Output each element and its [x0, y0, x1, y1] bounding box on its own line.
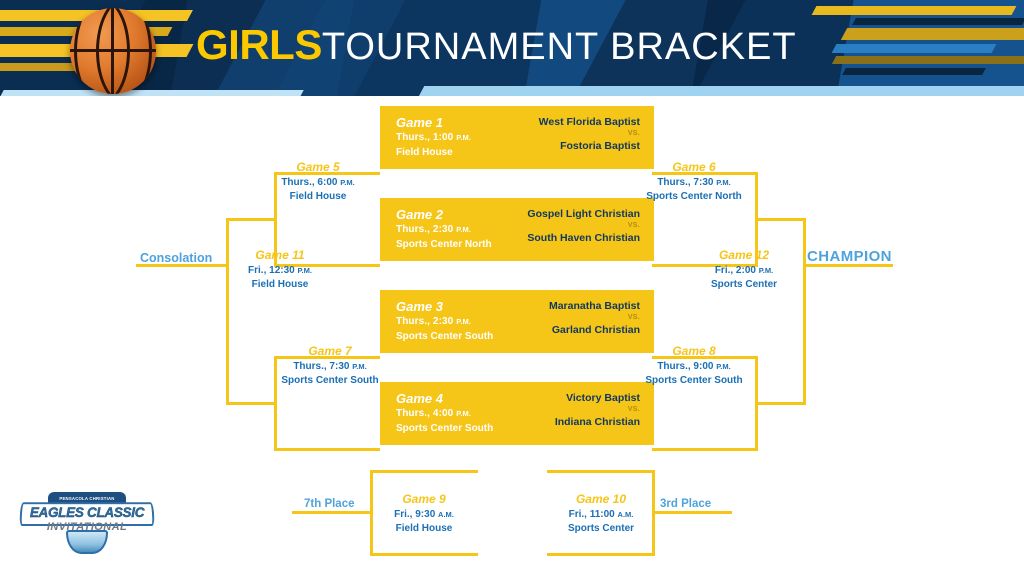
team-name-away: Indiana Christian — [555, 415, 640, 429]
game-box-game-1[interactable]: Game 1 Thurs., 1:00 P.M. Field House Wes… — [380, 106, 654, 169]
game-label-game-8[interactable]: Game 8 Thurs., 9:00 P.M. Sports Center S… — [634, 344, 754, 388]
game-time: Fri., 12:30 P.M. — [222, 264, 338, 278]
header-accent-stripe — [832, 56, 1024, 64]
team-name-away: Fostoria Baptist — [539, 139, 640, 153]
game-time-text: Thurs., 1:00 — [396, 132, 456, 143]
game-time-ampm: P.M. — [456, 133, 471, 142]
game-time-text: Fri., 9:30 — [394, 509, 438, 520]
game-matchup: Maranatha Baptist VS. Garland Christian — [549, 299, 640, 337]
game-venue: Sports Center — [686, 278, 802, 292]
game-label-game-7[interactable]: Game 7 Thurs., 7:30 P.M. Sports Center S… — [270, 344, 390, 388]
game-time: Thurs., 9:00 P.M. — [634, 360, 754, 374]
game-time-ampm: P.M. — [456, 409, 471, 418]
versus-label: VS. — [527, 221, 640, 230]
header-accent-stripe — [841, 28, 1024, 40]
game-matchup: Gospel Light Christian VS. South Haven C… — [527, 207, 640, 245]
game-venue: Field House — [370, 522, 478, 536]
game-info: Game 2 Thurs., 2:30 P.M. Sports Center N… — [396, 207, 492, 252]
game-time: Thurs., 7:30 P.M. — [634, 176, 754, 190]
game-label-game-5[interactable]: Game 5 Thurs., 6:00 P.M. Field House — [258, 160, 378, 204]
game-label-game-12[interactable]: Game 12 Fri., 2:00 P.M. Sports Center — [686, 248, 802, 292]
game-box-game-2[interactable]: Game 2 Thurs., 2:30 P.M. Sports Center N… — [380, 198, 654, 261]
game-label-game-9[interactable]: Game 9 Fri., 9:30 A.M. Field House — [370, 492, 478, 536]
page-title-highlight: GIRLS — [196, 21, 322, 68]
game-title: Game 8 — [634, 344, 754, 360]
game-time-text: Thurs., 2:30 — [396, 316, 456, 327]
bracket-board: Game 1 Thurs., 1:00 P.M. Field House Wes… — [0, 96, 1024, 576]
game-time: Thurs., 2:30 P.M. — [396, 223, 492, 238]
game-time-ampm: P.M. — [352, 362, 366, 371]
header-accent-stripe — [842, 68, 986, 75]
game-venue: Field House — [258, 190, 378, 204]
connector-line — [652, 511, 732, 514]
game-time: Thurs., 2:30 P.M. — [396, 315, 493, 330]
game-title: Game 12 — [686, 248, 802, 264]
game-time-ampm: A.M. — [618, 510, 634, 519]
game-box-game-4[interactable]: Game 4 Thurs., 4:00 P.M. Sports Center S… — [380, 382, 654, 445]
game-title: Game 5 — [258, 160, 378, 176]
game-venue: Sports Center South — [396, 422, 493, 437]
game-time: Fri., 11:00 A.M. — [547, 508, 655, 522]
team-name-home: Victory Baptist — [555, 391, 640, 405]
team-name-home: Maranatha Baptist — [549, 299, 640, 313]
logo-shield-icon — [66, 530, 108, 554]
game-info: Game 1 Thurs., 1:00 P.M. Field House — [396, 115, 471, 160]
game-time-text: Thurs., 7:30 — [657, 177, 716, 188]
game-venue: Sports Center — [547, 522, 655, 536]
team-name-away: South Haven Christian — [527, 231, 640, 245]
game-matchup: Victory Baptist VS. Indiana Christian — [555, 391, 640, 429]
champion-label: CHAMPION — [807, 248, 892, 265]
logo-main-text: EAGLES CLASSIC — [18, 505, 156, 520]
game-title: Game 2 — [396, 207, 492, 223]
seventh-place-label: 7th Place — [304, 498, 355, 510]
connector-line — [226, 218, 277, 221]
game-info: Game 3 Thurs., 2:30 P.M. Sports Center S… — [396, 299, 493, 344]
game-label-game-10[interactable]: Game 10 Fri., 11:00 A.M. Sports Center — [547, 492, 655, 536]
game-title: Game 9 — [370, 492, 478, 508]
connector-line — [755, 402, 806, 405]
versus-label: VS. — [555, 405, 640, 414]
game-time-text: Fri., 11:00 — [569, 509, 618, 520]
game-title: Game 6 — [634, 160, 754, 176]
game-time: Thurs., 1:00 P.M. — [396, 131, 471, 146]
page-title-rest: TOURNAMENT BRACKET — [322, 26, 797, 68]
game-matchup: West Florida Baptist VS. Fostoria Baptis… — [539, 115, 640, 153]
game-time-ampm: P.M. — [298, 266, 312, 275]
game-title: Game 10 — [547, 492, 655, 508]
game-venue: Sports Center South — [634, 374, 754, 388]
game-title: Game 4 — [396, 391, 493, 407]
team-name-home: West Florida Baptist — [539, 115, 640, 129]
team-name-away: Garland Christian — [549, 323, 640, 337]
game-venue: Field House — [396, 146, 471, 161]
game-time-text: Thurs., 7:30 — [293, 361, 352, 372]
game-time: Thurs., 6:00 P.M. — [258, 176, 378, 190]
versus-label: VS. — [539, 129, 640, 138]
connector-line — [803, 218, 806, 405]
game-time-ampm: A.M. — [438, 510, 454, 519]
game-label-game-6[interactable]: Game 6 Thurs., 7:30 P.M. Sports Center N… — [634, 160, 754, 204]
game-time-ampm: P.M. — [340, 178, 354, 187]
header-accent-stripe — [812, 6, 1017, 15]
eagles-classic-logo: PENSACOLA CHRISTIAN COLLEGE EAGLES CLASS… — [18, 492, 156, 554]
game-venue: Sports Center South — [396, 330, 493, 345]
game-time: Thurs., 4:00 P.M. — [396, 407, 493, 422]
game-box-game-3[interactable]: Game 3 Thurs., 2:30 P.M. Sports Center S… — [380, 290, 654, 353]
game-time: Thurs., 7:30 P.M. — [270, 360, 390, 374]
third-place-label: 3rd Place — [660, 498, 711, 510]
game-title: Game 11 — [222, 248, 338, 264]
game-time-text: Thurs., 6:00 — [281, 177, 340, 188]
page-title: GIRLSTOURNAMENT BRACKET — [196, 24, 797, 66]
game-time-ampm: P.M. — [716, 362, 730, 371]
game-venue: Sports Center North — [634, 190, 754, 204]
game-venue: Sports Center South — [270, 374, 390, 388]
header-accent-stripe — [832, 44, 997, 53]
connector-line — [755, 218, 806, 221]
versus-label: VS. — [549, 313, 640, 322]
page-header: GIRLSTOURNAMENT BRACKET — [0, 0, 1024, 96]
game-time-text: Fri., 2:00 — [715, 265, 759, 276]
game-time-text: Thurs., 2:30 — [396, 224, 456, 235]
game-time: Fri., 9:30 A.M. — [370, 508, 478, 522]
game-title: Game 1 — [396, 115, 471, 131]
game-label-game-11[interactable]: Game 11 Fri., 12:30 P.M. Field House — [222, 248, 338, 292]
game-title: Game 7 — [270, 344, 390, 360]
game-time-text: Thurs., 4:00 — [396, 408, 456, 419]
connector-line — [292, 511, 372, 514]
game-time-ampm: P.M. — [456, 317, 471, 326]
game-time-ampm: P.M. — [759, 266, 773, 275]
connector-line — [226, 218, 229, 405]
connector-line — [274, 448, 380, 451]
connector-line — [547, 553, 655, 556]
header-accent-stripe — [852, 18, 1024, 25]
game-venue: Field House — [222, 278, 338, 292]
game-time-ampm: P.M. — [716, 178, 730, 187]
connector-line — [652, 448, 758, 451]
consolation-label: Consolation — [140, 251, 212, 265]
connector-line — [370, 553, 478, 556]
connector-line — [547, 470, 655, 473]
game-time-ampm: P.M. — [456, 225, 471, 234]
game-title: Game 3 — [396, 299, 493, 315]
header-light-blue-stripe — [416, 86, 1024, 96]
game-time-text: Thurs., 9:00 — [657, 361, 716, 372]
game-info: Game 4 Thurs., 4:00 P.M. Sports Center S… — [396, 391, 493, 436]
team-name-home: Gospel Light Christian — [527, 207, 640, 221]
game-time: Fri., 2:00 P.M. — [686, 264, 802, 278]
basketball-icon — [70, 8, 156, 94]
game-venue: Sports Center North — [396, 238, 492, 253]
game-time-text: Fri., 12:30 — [248, 265, 297, 276]
connector-line — [370, 470, 478, 473]
connector-line — [226, 402, 277, 405]
